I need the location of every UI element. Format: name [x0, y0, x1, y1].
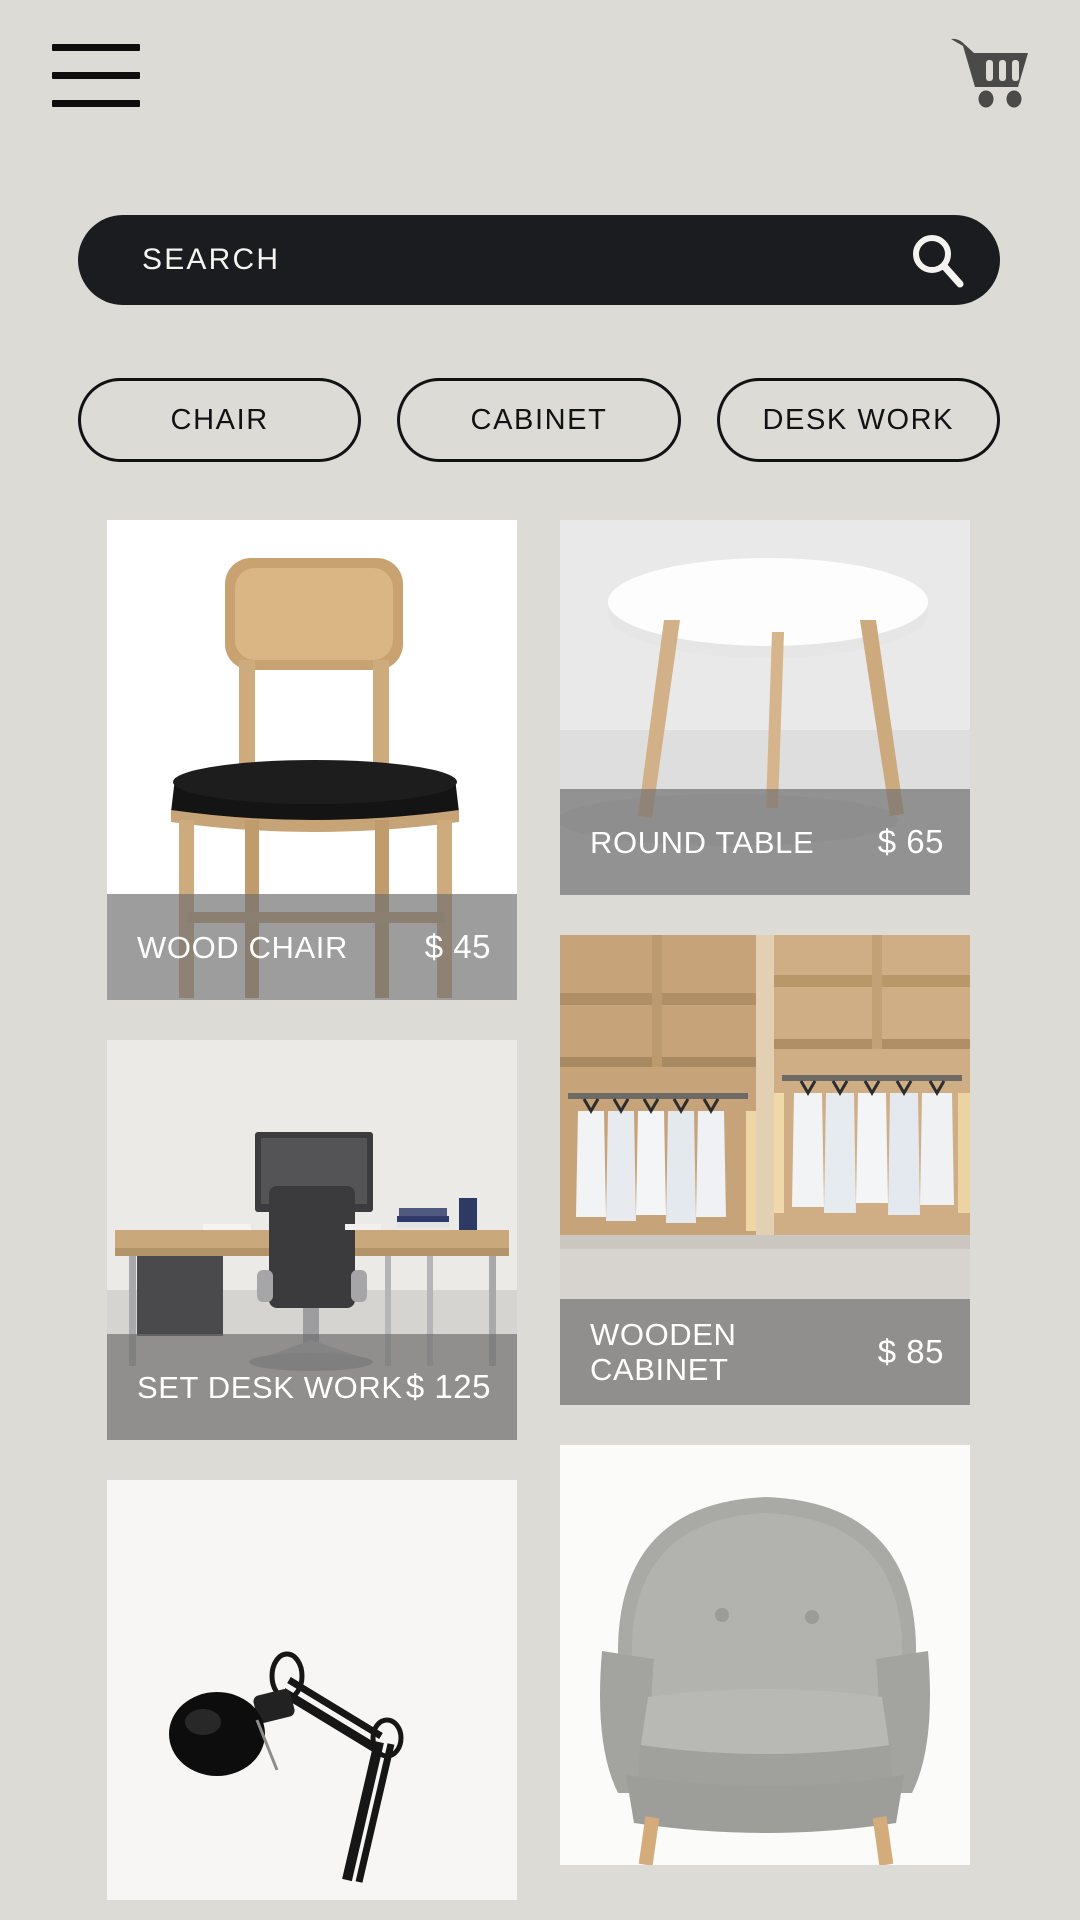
product-name: WOODEN CABINET [590, 1317, 878, 1387]
product-grid: WOOD CHAIR $ 45 [0, 520, 1080, 1920]
product-card-set-desk-work[interactable]: SET DESK WORK $ 125 [107, 1040, 517, 1440]
product-price: $ 65 [878, 823, 944, 861]
magnifier-icon[interactable] [908, 231, 966, 289]
hamburger-line-2 [52, 72, 140, 79]
product-card-round-table[interactable]: ROUND TABLE $ 65 [560, 520, 970, 895]
product-caption: WOODEN CABINET $ 85 [560, 1299, 970, 1405]
hamburger-menu-icon[interactable] [52, 44, 140, 106]
product-price: $ 85 [878, 1333, 944, 1371]
product-name: SET DESK WORK [137, 1370, 406, 1405]
hamburger-line-1 [52, 44, 140, 51]
category-pill-cabinet[interactable]: CABINET [397, 378, 680, 462]
desk-lamp-photo [107, 1480, 517, 1900]
product-card-wooden-cabinet[interactable]: WOODEN CABINET $ 85 [560, 935, 970, 1405]
shopping-cart-icon[interactable] [948, 36, 1032, 108]
product-name: ROUND TABLE [590, 825, 878, 860]
app-screen: SEARCH CHAIR CABINET DESK WORK [0, 0, 1080, 1920]
search-bar[interactable]: SEARCH [78, 215, 1000, 305]
top-bar [0, 0, 1080, 150]
hamburger-line-3 [52, 100, 140, 107]
product-card-wood-chair[interactable]: WOOD CHAIR $ 45 [107, 520, 517, 1000]
category-pill-chair[interactable]: CHAIR [78, 378, 361, 462]
product-caption: SET DESK WORK $ 125 [107, 1334, 517, 1440]
product-card-desk-lamp[interactable] [107, 1480, 517, 1900]
search-input[interactable]: SEARCH [142, 243, 908, 277]
category-pill-desk-work[interactable]: DESK WORK [717, 378, 1000, 462]
product-column-left: WOOD CHAIR $ 45 [107, 520, 517, 1920]
product-price: $ 45 [425, 928, 491, 966]
product-column-right: ROUND TABLE $ 65 [560, 520, 970, 1905]
product-caption: WOOD CHAIR $ 45 [107, 894, 517, 1000]
product-name: WOOD CHAIR [137, 930, 425, 965]
product-caption: ROUND TABLE $ 65 [560, 789, 970, 895]
product-price: $ 125 [406, 1368, 491, 1406]
category-filter-row: CHAIR CABINET DESK WORK [78, 378, 1000, 462]
grey-armchair-photo [560, 1445, 970, 1865]
product-card-grey-armchair[interactable] [560, 1445, 970, 1865]
